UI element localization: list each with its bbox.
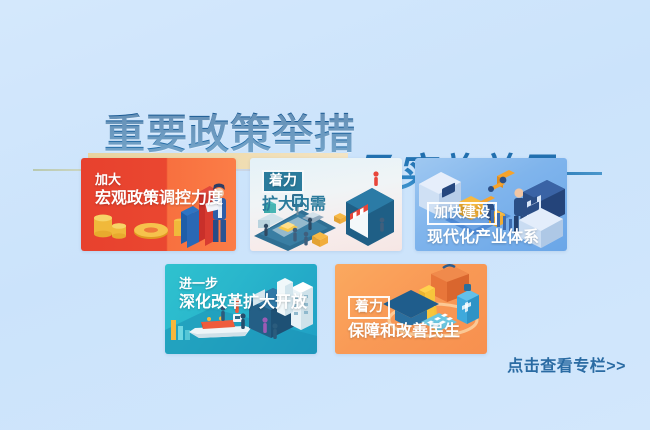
card-modern-industry-line2: 现代化产业体系 (427, 228, 539, 248)
card-macro-policy-label: 加大 宏观政策调控力度 (95, 172, 223, 209)
card-reform-opening-line2: 深化改革扩大开放 (179, 293, 307, 313)
card-domestic-demand[interactable]: 着力 扩大内需 (250, 158, 402, 251)
card-domestic-demand-line2: 扩大内需 (262, 195, 326, 215)
card-livelihood-line1: 着力 (348, 296, 390, 319)
banner-title-line1: 重要政策举措 (104, 110, 356, 158)
policy-banner: 重要政策举措 及实施效果 (0, 0, 650, 430)
card-domestic-demand-label: 着力 扩大内需 (262, 170, 326, 215)
card-livelihood[interactable]: 着力 保障和改善民生 (335, 264, 487, 354)
card-macro-policy-line2: 宏观政策调控力度 (95, 189, 223, 209)
card-livelihood-label: 着力 保障和改善民生 (348, 296, 460, 342)
card-modern-industry[interactable]: 加快建设 现代化产业体系 (415, 158, 567, 251)
banner-title-area: 重要政策举措 及实施效果 (0, 52, 650, 152)
card-reform-opening-line1: 进一步 (179, 276, 307, 293)
card-modern-industry-line1: 加快建设 (427, 202, 497, 225)
view-column-link[interactable]: 点击查看专栏>> (507, 352, 626, 376)
card-livelihood-line2: 保障和改善民生 (348, 322, 460, 342)
card-macro-policy[interactable]: 加大 宏观政策调控力度 (81, 158, 236, 251)
card-domestic-demand-line1: 着力 (262, 170, 304, 193)
card-reform-opening-label: 进一步 深化改革扩大开放 (179, 276, 307, 313)
card-reform-opening[interactable]: 进一步 深化改革扩大开放 (165, 264, 317, 354)
card-modern-industry-label: 加快建设 现代化产业体系 (427, 202, 539, 248)
card-macro-policy-line1: 加大 (95, 172, 223, 189)
